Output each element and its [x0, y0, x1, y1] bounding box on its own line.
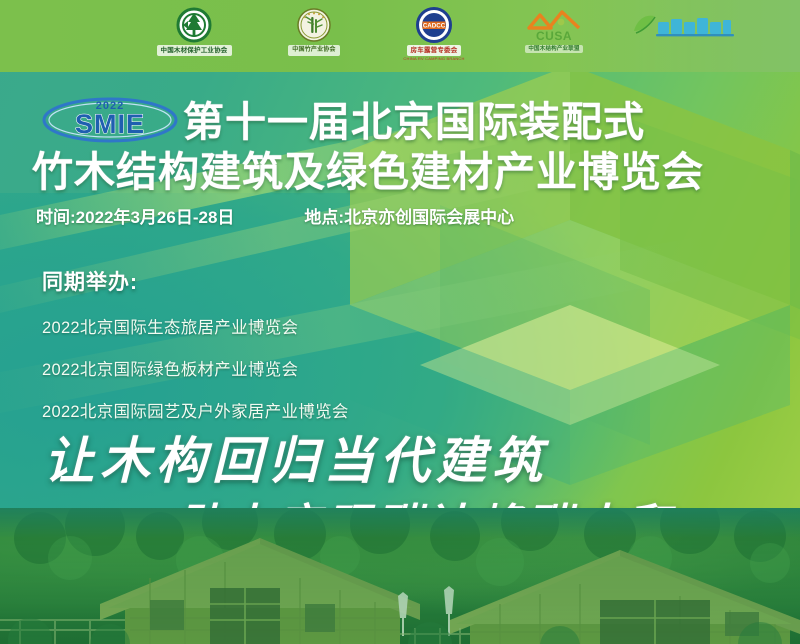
- logo-cusa: CUSA 中国木结构产业联盟: [506, 5, 602, 67]
- svg-text:CUSA: CUSA: [536, 29, 572, 43]
- logo-label: 中国木材保护工业协会: [157, 45, 232, 56]
- logo-sub-label: CHINA RV CAMPING BRANCH: [403, 56, 464, 61]
- event-meta: 时间:2022年3月26日-28日 地点:北京亦创国际会展中心: [36, 203, 676, 228]
- house-roof-icon: CUSA: [525, 5, 583, 45]
- logo-label: 房车露营专委会: [407, 45, 462, 56]
- event-date: 时间:2022年3月26日-28日: [36, 203, 234, 228]
- list-item: 2022北京国际绿色板材产业博览会: [42, 356, 349, 380]
- logo-label: 中国竹产业协会: [288, 45, 339, 56]
- list-item: 2022北京国际生态旅居产业博览会: [42, 314, 349, 338]
- exhibition-poster: 中国木材保护工业协会 中国竹产业协会: [0, 0, 800, 644]
- event-venue: 地点:北京亦创国际会展中心: [304, 203, 514, 228]
- logo-bamboo-association: 中国竹产业协会: [266, 5, 362, 67]
- logo-senmei: [626, 5, 746, 67]
- bamboo-medal-icon: [297, 5, 331, 45]
- sponsor-logo-row: 中国木材保护工业协会 中国竹产业协会: [0, 0, 800, 72]
- concurrent-heading: 同期举办:: [42, 266, 349, 296]
- concurrent-list: 2022北京国际生态旅居产业博览会 2022北京国际绿色板材产业博览会 2022…: [42, 314, 349, 422]
- smie-wordmark-text: SMIE: [75, 109, 145, 139]
- slogan-line-1: 让木构回归当代建筑: [44, 421, 548, 493]
- logo-china-wood-protection: 中国木材保护工业协会: [146, 5, 242, 67]
- cadcc-roundel-icon: CADCC: [416, 5, 452, 45]
- list-item: 2022北京国际园艺及户外家居产业博览会: [42, 398, 349, 422]
- concurrent-events-block: 同期举办: 2022北京国际生态旅居产业博览会 2022北京国际绿色板材产业博览…: [42, 266, 349, 440]
- cabin-photo-strip: [0, 508, 800, 644]
- smie-logo: 2022 SMIE: [40, 92, 180, 144]
- logo-label: 中国木结构产业联盟: [525, 45, 582, 53]
- logo-cadcc: CADCC 房车露营专委会 CHINA RV CAMPING BRANCH: [386, 5, 482, 67]
- svg-text:CADCC: CADCC: [423, 22, 446, 29]
- headline-line-2: 竹木结构建筑及绿色建材产业博览会: [32, 138, 704, 198]
- pine-tree-in-circle-icon: [176, 5, 212, 45]
- leaf-wordmark-icon: [630, 5, 742, 45]
- photo-green-tint: [0, 508, 800, 644]
